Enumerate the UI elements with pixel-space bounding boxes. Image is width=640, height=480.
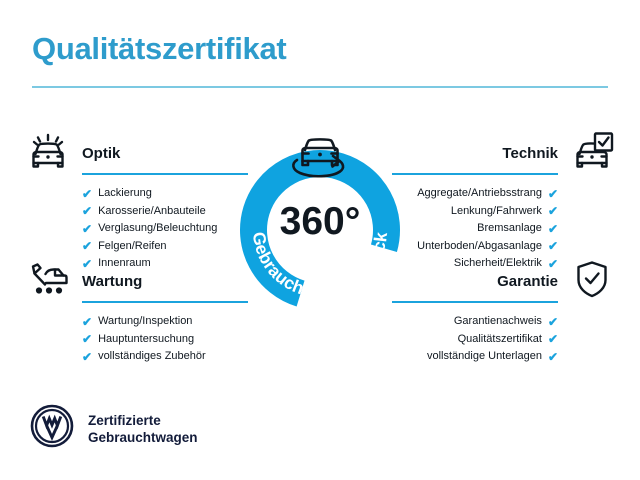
wrench-car-icon [22, 256, 74, 302]
footer-text: Zertifizierte Gebrauchtwagen [88, 412, 198, 446]
section-wartung: Wartung ✔Wartung/Inspektion ✔Hauptunters… [22, 256, 254, 366]
list-item: ✔Hauptuntersuchung [82, 331, 254, 349]
check-icon: ✔ [548, 333, 558, 345]
check-icon: ✔ [548, 223, 558, 235]
badge-center-label: 360° [280, 200, 361, 243]
list-item: Qualitätszertifikat✔ [386, 331, 558, 349]
list-item-label: Lenkung/Fahrwerk [451, 203, 542, 221]
car-sparkle-icon [22, 128, 74, 174]
list-item: Garantienachweis✔ [386, 313, 558, 331]
list-item: ✔vollständiges Zubehör [82, 348, 254, 366]
section-divider [392, 301, 558, 303]
list-item-label: Aggregate/Antriebsstrang [417, 185, 542, 203]
section-title: Technik [502, 145, 558, 162]
vw-logo [30, 404, 74, 453]
list-item-label: Wartung/Inspektion [98, 313, 192, 331]
section-title: Optik [82, 145, 120, 162]
page-title: Qualitätszertifikat [32, 31, 286, 67]
checklist-garantie: Garantienachweis✔ Qualitätszertifikat✔ v… [386, 313, 618, 366]
list-item-label: Verglasung/Beleuchtung [98, 220, 217, 238]
badge-360-gebrauchtwagen-check: 360° Gebrauchtwagen-Check [228, 122, 412, 312]
section-technik: Technik Aggregate/Antriebsstrang✔ Lenkun… [386, 128, 618, 273]
check-icon: ✔ [548, 316, 558, 328]
list-item: ✔Wartung/Inspektion [82, 313, 254, 331]
list-item-label: Hauptuntersuchung [98, 331, 194, 349]
section-divider [82, 301, 248, 303]
footer-brand: Zertifizierte Gebrauchtwagen [30, 404, 198, 453]
section-header: Wartung [22, 256, 254, 304]
check-icon: ✔ [548, 188, 558, 200]
check-icon: ✔ [82, 188, 92, 200]
section-divider [392, 173, 558, 175]
check-icon: ✔ [82, 205, 92, 217]
section-divider [82, 173, 248, 175]
list-item-label: Qualitätszertifikat [458, 331, 542, 349]
section-optik: Optik ✔Lackierung ✔Karosserie/Anbauteile… [22, 128, 254, 273]
list-item-label: Lackierung [98, 185, 152, 203]
section-garantie: Garantie Garantienachweis✔ Qualitätszert… [386, 256, 618, 366]
check-icon: ✔ [82, 316, 92, 328]
list-item-label: vollständige Unterlagen [427, 348, 542, 366]
list-item-label: Felgen/Reifen [98, 238, 167, 256]
check-icon: ✔ [82, 333, 92, 345]
check-icon: ✔ [548, 205, 558, 217]
list-item-label: Karosserie/Anbauteile [98, 203, 206, 221]
check-icon: ✔ [548, 351, 558, 363]
check-icon: ✔ [82, 223, 92, 235]
list-item-label: Bremsanlage [477, 220, 542, 238]
list-item-label: Unterboden/Abgasanlage [417, 238, 542, 256]
check-icon: ✔ [82, 351, 92, 363]
check-icon: ✔ [548, 240, 558, 252]
section-header: Garantie [386, 256, 618, 304]
list-item-label: vollständiges Zubehör [98, 348, 206, 366]
list-item: vollständige Unterlagen✔ [386, 348, 558, 366]
list-item-label: Garantienachweis [454, 313, 542, 331]
header-divider [32, 86, 608, 88]
section-header: Optik [22, 128, 254, 176]
section-title: Wartung [82, 273, 142, 290]
checklist-wartung: ✔Wartung/Inspektion ✔Hauptuntersuchung ✔… [22, 313, 254, 366]
section-title: Garantie [497, 273, 558, 290]
car-checkbox-icon [566, 128, 618, 174]
shield-check-icon [566, 256, 618, 302]
section-header: Technik [386, 128, 618, 176]
check-icon: ✔ [82, 240, 92, 252]
